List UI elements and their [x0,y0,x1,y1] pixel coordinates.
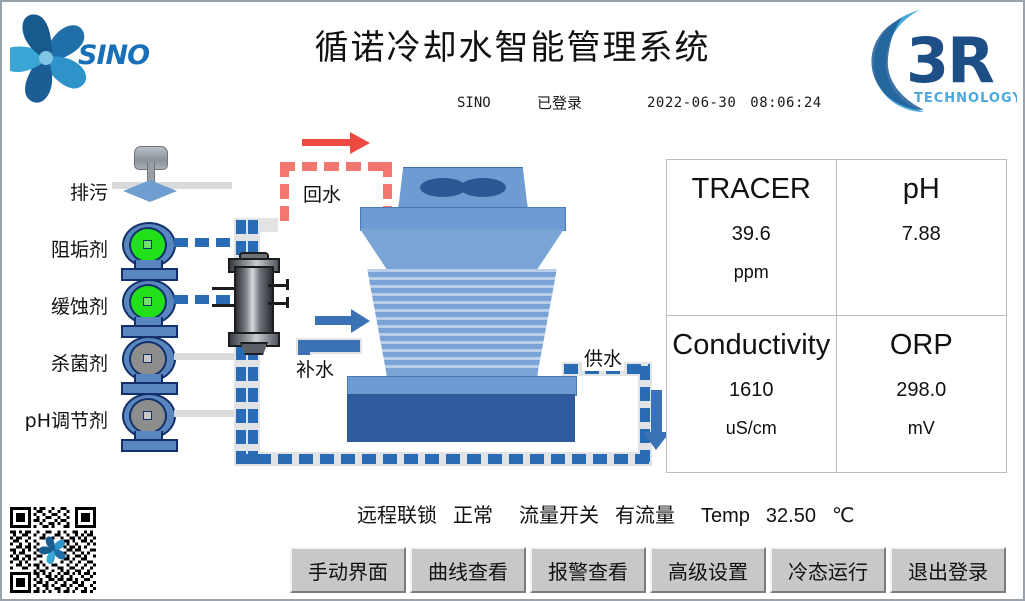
pump-biocide[interactable] [120,336,178,392]
flow-label-supply-water: 供水 [582,344,624,371]
analyzer-nozzle-left-lower [212,304,236,307]
3r-logo-icon: 3R TECHNOLOGY [862,4,1017,116]
status-bar: 远程联锁 正常 流量开关 有流量 Temp 32.50 ℃ [357,499,854,528]
chem-label-blowdown: 排污 [20,178,108,205]
measurement-card-orp: ORP 298.0 mV [837,316,1007,472]
session-user: SINO [457,95,537,111]
advanced-settings-button[interactable]: 高级设置 [650,547,766,593]
navigation-button-bar: 手动界面 曲线查看 报警查看 高级设置 冷态运行 退出登录 [290,547,1006,593]
pump-ph-adjuster[interactable] [120,393,178,449]
measurement-name: Conductivity [672,330,830,362]
pump-center-dot-icon [143,354,152,363]
pump-center-dot-icon [143,297,152,306]
measurement-card-conductivity: Conductivity 1610 uS/cm [667,316,837,472]
fan-blade-right-icon [460,178,506,197]
chem-label-ph-adjuster: pH调节剂 [8,406,108,433]
measurement-value: 298.0 [896,379,946,402]
measurement-name: TRACER [692,174,811,206]
measurement-value: 1610 [729,379,774,402]
measurements-panel: TRACER 39.6 ppm pH 7.88 Conductivity 161… [666,159,1007,473]
remote-interlock-value: 正常 [453,499,493,528]
cooling-tower-fill-louvers [360,269,564,374]
manual-screen-button[interactable]: 手动界面 [290,547,406,593]
chem-label-biocide: 杀菌剂 [20,349,108,376]
measurement-name: pH [903,174,940,206]
measurement-name: ORP [890,330,953,362]
makeup-pipe-h [298,340,360,352]
flow-switch-value: 有流量 [615,499,675,528]
blowdown-valve[interactable] [120,142,180,204]
temperature-label: Temp [701,505,750,528]
cooling-tower-body [360,229,564,269]
logout-button[interactable]: 退出登录 [890,547,1006,593]
qr-code-icon [10,507,96,593]
return-pipe-left-riser [280,162,289,222]
makeup-flow-arrow-icon [315,308,371,334]
analyzer-nozzle-cap-upper [286,279,289,290]
flow-label-return-water: 回水 [301,180,343,207]
analyzer-nozzle-cap-lower [286,297,289,308]
qr-code[interactable] [10,507,96,593]
return-pipe-top-run [280,162,392,171]
pump-antiscalant[interactable] [120,222,178,278]
temperature-unit: ℃ [832,503,854,527]
flow-label-makeup-water: 补水 [294,355,336,382]
pump-corrosion-inhibitor[interactable] [120,279,178,335]
svg-text:TECHNOLOGY: TECHNOLOGY [914,91,1017,106]
3r-technology-logo: 3R TECHNOLOGY [862,4,1017,116]
analyzer-nozzle-right-lower [268,302,288,305]
analyzer-bottom-cap-icon [240,342,268,355]
cooling-tower-basin-top [347,376,577,396]
session-time: 08:06:24 [750,95,821,111]
cooling-water-management-screen: SINO 循诺冷却水智能管理系统 SINO 已登录 2022-06-30 08:… [0,0,1025,601]
process-flow-diagram: 排污 阻垢剂 缓蚀剂 杀菌剂 pH调节剂 [2,122,662,482]
measurement-unit: ppm [734,262,769,283]
measurement-card-ph: pH 7.88 [837,160,1007,316]
pump-base-icon [121,439,178,452]
alarm-view-button[interactable]: 报警查看 [530,547,646,593]
valve-left-cone-icon [123,180,150,202]
chem-label-corrosion-inhibitor: 缓蚀剂 [20,292,108,319]
analyzer-nozzle-left-upper [212,287,236,290]
session-info: SINO 已登录 2022-06-30 08:06:24 [457,92,822,113]
trend-view-button[interactable]: 曲线查看 [410,547,526,593]
measurement-unit: uS/cm [726,418,777,439]
cold-start-run-button[interactable]: 冷态运行 [770,547,886,593]
analyzer-nozzle-right-upper [268,284,288,287]
flow-switch-label: 流量开关 [519,499,599,528]
chem-label-antiscalant: 阻垢剂 [20,235,108,262]
return-flow-arrow-icon [302,130,372,156]
measurement-unit: mV [908,418,935,439]
cooling-tower-basin [347,394,575,442]
measurement-value: 39.6 [732,223,771,246]
temperature-value: 32.50 [766,505,816,528]
remote-interlock-label: 远程联锁 [357,499,437,528]
pipe-bottom-run [236,454,650,464]
measurement-value: 7.88 [902,223,941,246]
pump-center-dot-icon [143,411,152,420]
session-login-state: 已登录 [537,92,647,113]
cooling-tower-cap [360,207,566,231]
water-quality-analyzer[interactable] [226,252,280,357]
return-pipe-right-downcomer [383,162,392,210]
pump-center-dot-icon [143,240,152,249]
svg-text:3R: 3R [906,24,994,97]
measurement-card-tracer: TRACER 39.6 ppm [667,160,837,316]
valve-right-cone-icon [150,180,177,202]
session-date: 2022-06-30 [647,95,736,111]
